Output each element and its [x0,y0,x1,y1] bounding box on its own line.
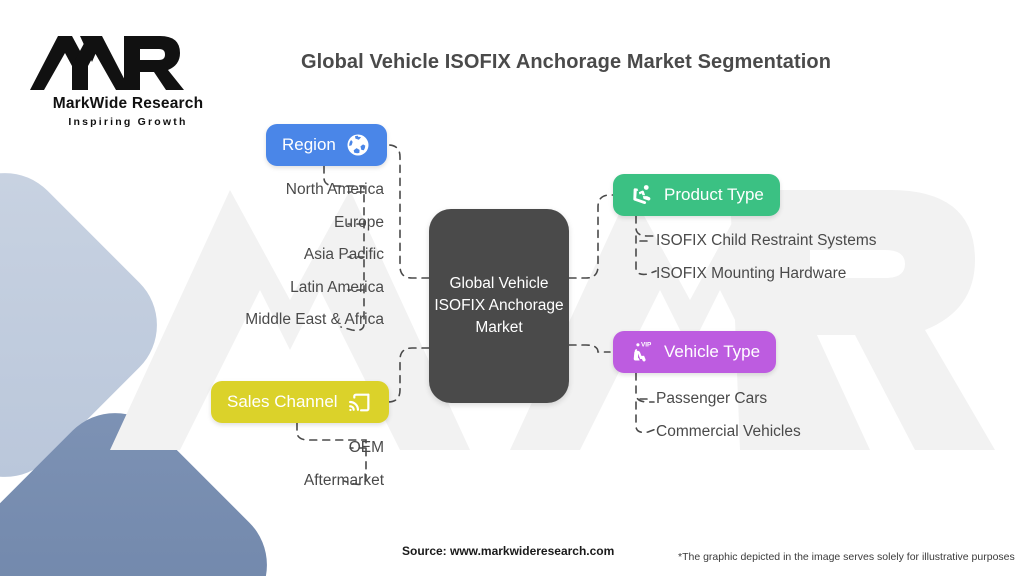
globe-icon [345,132,371,158]
cast-icon [347,389,373,415]
svg-text:VIP: VIP [640,341,651,348]
infographic-canvas: MarkWide Research Inspiring Growth Globa… [0,0,1024,576]
leaf-list-region: North America Europe Asia Pacific Latin … [245,182,384,328]
leaf-item: OEM [349,440,384,456]
brand-name: MarkWide Research [28,95,228,113]
leaf-item: Middle East & Africa [245,312,384,328]
connector-center-sales [383,348,429,402]
leaf-item: ISOFIX Child Restraint Systems [656,233,877,249]
branch-label-product-type: Product Type [664,185,764,205]
leaf-item: Aftermarket [304,473,384,489]
leaf-list-product-type: ISOFIX Child Restraint Systems ISOFIX Mo… [656,233,877,281]
disclaimer-note: *The graphic depicted in the image serve… [678,551,1015,563]
connector-product-leaf-1 [636,236,656,274]
leaf-item: ISOFIX Mounting Hardware [656,266,846,282]
leaf-item: Europe [334,215,384,231]
leaf-list-vehicle-type: Passenger Cars Commercial Vehicles [656,391,801,439]
connector-vehicle-leaf-1 [636,402,656,432]
leaf-item: Latin America [290,280,384,296]
center-node: Global Vehicle ISOFIX Anchorage Market [429,209,569,403]
leaf-item: North America [286,182,384,198]
branch-badge-sales-channel[interactable]: Sales Channel [211,381,389,423]
leaf-list-sales-channel: OEM Aftermarket [304,440,384,488]
branch-badge-region[interactable]: Region [266,124,387,166]
branch-badge-product-type[interactable]: Product Type [613,174,780,216]
brand-tagline: Inspiring Growth [28,116,228,128]
connector-center-region [383,145,429,278]
car-seat-icon [629,182,655,208]
center-node-label: Global Vehicle ISOFIX Anchorage Market [429,273,569,339]
connector-center-product [569,195,613,278]
deco-square-light [0,148,182,502]
connector-center-vehicle [569,345,610,352]
leaf-item: Passenger Cars [656,391,767,407]
leaf-item: Asia Pacific [304,247,384,263]
branch-label-sales-channel: Sales Channel [227,392,338,412]
leaf-item: Commercial Vehicles [656,424,801,440]
connector-product-spine [636,216,654,236]
source-note: Source: www.markwideresearch.com [402,544,614,558]
connector-vehicle-spine [636,373,654,402]
page-title: Global Vehicle ISOFIX Anchorage Market S… [256,51,876,74]
brand-logo: MarkWide Research Inspiring Growth [28,32,228,128]
mwr-logo-icon [28,32,188,94]
vip-seat-icon: VIP [629,339,655,365]
branch-label-vehicle-type: Vehicle Type [664,342,760,362]
branch-label-region: Region [282,135,336,155]
branch-badge-vehicle-type[interactable]: VIP Vehicle Type [613,331,776,373]
